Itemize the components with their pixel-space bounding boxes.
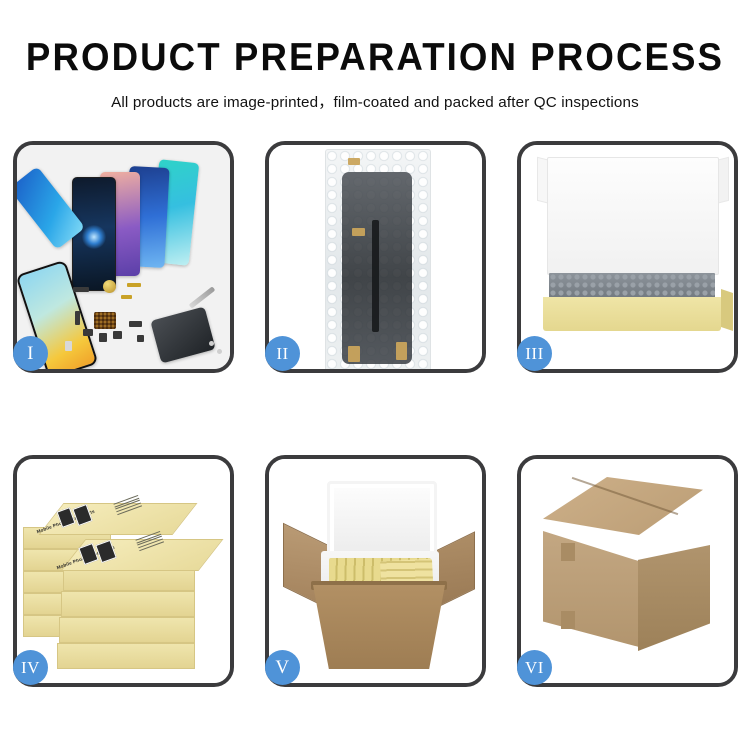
step-badge-3: III [517, 336, 552, 371]
step-badge-1: I [13, 336, 48, 371]
screw-1 [209, 341, 214, 346]
carton-handle-cut-top [561, 543, 575, 561]
step-badge-4: IV [13, 650, 48, 685]
page-subtitle: All products are image-printed，film-coat… [0, 90, 750, 112]
step-image-3: III [521, 145, 734, 369]
bubble-bag [325, 149, 431, 369]
small-part-3 [83, 329, 93, 336]
box-stack-item [61, 591, 195, 617]
carton-top-face [543, 477, 703, 535]
step-panel-5[interactable]: V [265, 455, 486, 687]
box-stack-item [57, 643, 195, 669]
step-image-1: I [17, 145, 230, 369]
flex-cable-2 [121, 295, 132, 299]
sealed-carton-illustration [521, 459, 734, 683]
step-panel-6[interactable]: VI [517, 455, 738, 687]
step-badge-6: VI [517, 650, 552, 685]
logic-board-chip [94, 312, 116, 329]
steps-grid: I II [13, 141, 737, 687]
carton-side-face [638, 545, 710, 651]
small-part-7 [137, 335, 144, 342]
phone-screen-dark [72, 177, 116, 291]
step-badge-2: II [265, 336, 300, 371]
white-lid [547, 157, 719, 275]
speaker-component [103, 280, 116, 293]
tape-3 [348, 346, 360, 362]
step-numeral-6: VI [525, 658, 544, 678]
step-numeral-1: I [27, 343, 34, 365]
carton-handle-cut-bottom [561, 611, 575, 629]
product-preparation-infographic: PRODUCT PREPARATION PROCESS All products… [0, 0, 750, 750]
step-numeral-5: V [275, 657, 289, 679]
carton-foam-illustration [269, 459, 482, 683]
step-panel-1[interactable]: I [13, 141, 234, 373]
small-part-5 [113, 331, 122, 339]
carton-front-face [543, 531, 639, 647]
step-badge-5: V [265, 650, 300, 685]
phone-back-housing [150, 307, 215, 364]
small-part-2 [75, 311, 80, 325]
box-side [721, 289, 733, 331]
step-panel-4[interactable]: Mobile Phone Spare Parts Mobile Phone Sp… [13, 455, 234, 687]
foam-cooler-lid [327, 481, 437, 559]
header: PRODUCT PREPARATION PROCESS All products… [0, 0, 750, 112]
bubble-wrap-illustration [269, 145, 482, 369]
flex-cable-1 [127, 283, 141, 287]
step-numeral-4: IV [21, 658, 40, 678]
small-part-1 [73, 287, 89, 292]
step-panel-3[interactable]: III [517, 141, 738, 373]
small-part-6 [129, 321, 142, 327]
tape-4 [396, 342, 407, 360]
yellow-box-base [543, 297, 721, 331]
sim-tray [65, 341, 72, 351]
tape-1 [348, 158, 360, 165]
carton-body [313, 585, 445, 669]
stacked-boxes-illustration: Mobile Phone Spare Parts Mobile Phone Sp… [17, 459, 230, 683]
page-title: PRODUCT PREPARATION PROCESS [23, 38, 728, 79]
screw-2 [217, 349, 222, 354]
flex-cable [372, 220, 379, 332]
step-image-6: VI [521, 459, 734, 683]
phone-parts-illustration [17, 145, 230, 369]
inner-box-illustration [521, 145, 734, 369]
small-part-4 [99, 333, 107, 342]
step-numeral-2: II [276, 344, 288, 364]
screwdriver-icon [189, 286, 216, 308]
step-image-2: II [269, 145, 482, 369]
tape-2 [352, 228, 365, 236]
step-image-4: Mobile Phone Spare Parts Mobile Phone Sp… [17, 459, 230, 683]
step-image-5: V [269, 459, 482, 683]
step-numeral-3: III [525, 344, 543, 364]
step-panel-2[interactable]: II [265, 141, 486, 373]
box-stack-item [59, 617, 195, 643]
